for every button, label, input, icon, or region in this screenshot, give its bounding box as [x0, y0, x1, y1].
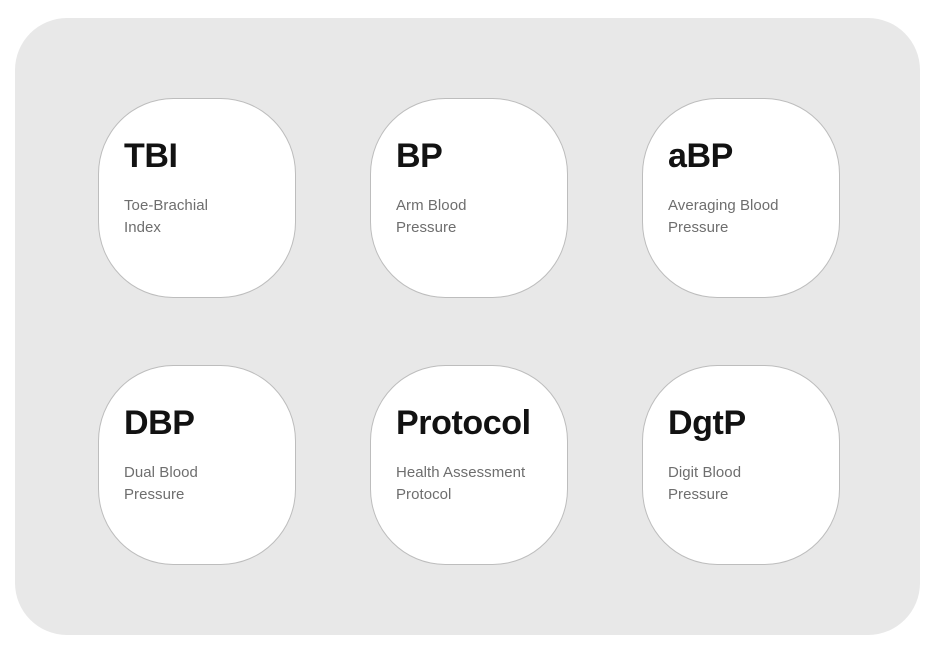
abbreviation-panel: TBI Toe-Brachial Index BP Arm Blood Pres… [15, 18, 920, 635]
card-subtitle: Dual Blood Pressure [124, 462, 295, 506]
card-subtitle: Arm Blood Pressure [396, 195, 567, 239]
abbreviation-card-dgtp[interactable]: DgtP Digit Blood Pressure [642, 365, 840, 565]
card-title: DBP [124, 406, 295, 440]
card-subtitle: Digit Blood Pressure [668, 462, 839, 506]
card-subtitle: Averaging Blood Pressure [668, 195, 839, 239]
abbreviation-card-tbi[interactable]: TBI Toe-Brachial Index [98, 98, 296, 298]
card-title: BP [396, 139, 567, 173]
abbreviation-card-dbp[interactable]: DBP Dual Blood Pressure [98, 365, 296, 565]
card-subtitle: Health Assessment Protocol [396, 462, 567, 506]
abbreviation-card-protocol[interactable]: Protocol Health Assessment Protocol [370, 365, 568, 565]
abbreviation-card-bp[interactable]: BP Arm Blood Pressure [370, 98, 568, 298]
card-title: TBI [124, 139, 295, 173]
card-title: Protocol [396, 406, 567, 440]
abbreviation-card-grid: TBI Toe-Brachial Index BP Arm Blood Pres… [98, 98, 840, 565]
abbreviation-card-abp[interactable]: aBP Averaging Blood Pressure [642, 98, 840, 298]
card-title: DgtP [668, 406, 839, 440]
card-subtitle: Toe-Brachial Index [124, 195, 295, 239]
card-title: aBP [668, 139, 839, 173]
